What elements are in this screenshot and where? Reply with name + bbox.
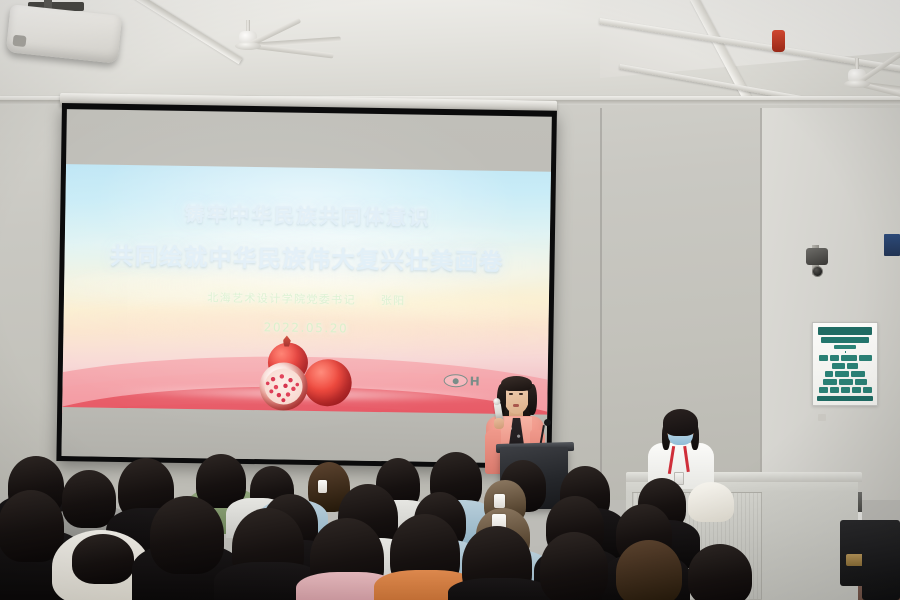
poster-chart-row [816,355,874,361]
audience-shoulders [448,578,552,600]
slide-watermark-logo: H [444,372,498,390]
lecture-hall-photo: 铸牢中华民族共同体意识 共同绘就中华民族伟大复兴壮美画卷 北海艺术设计学院党委书… [0,0,900,600]
slide-presenter-line: 北海艺术设计学院党委书记 张阳 [64,287,549,311]
wall-scuff [818,414,826,421]
audience-head [616,540,682,600]
poster-chart-cell [835,371,849,377]
audience-head [0,490,64,562]
right-wall-panel [760,108,900,500]
poster-chart-cell [847,363,858,369]
audience-head [540,532,608,600]
poster-chart-cell [841,387,850,393]
speaker-mouth [513,404,519,407]
poster-header-bar [818,327,872,335]
audience-head [150,496,224,574]
speaker-hand [494,418,504,429]
speaker-eye [509,393,513,395]
poster-chart-cell [839,379,853,385]
speaker-eye [519,393,523,395]
fire-alarm-bell [772,30,785,52]
screen-surface: 铸牢中华民族共同体意识 共同绘就中华民族伟大复兴壮美画卷 北海艺术设计学院党委书… [61,109,551,464]
wall-security-camera [806,248,828,265]
wall-seam [600,108,602,500]
audience-head [72,534,134,584]
camera-lens-icon [812,266,823,277]
poster-chart-cell [832,363,845,369]
poster-chart-cell [819,387,828,393]
eye-icon [444,374,468,387]
poster-connector [845,351,846,354]
side-chair [862,540,900,600]
poster-chart-cell [841,355,857,361]
organization-chart-poster [812,322,878,406]
podium-mic-head [544,419,551,426]
poster-chart-row [816,371,874,377]
poster-chart-cell [859,355,872,361]
hair-clip [494,494,505,508]
poster-chart-cell [830,387,839,393]
poster-title-bar [821,337,869,343]
poster-chart-row [816,379,874,385]
slide-date: 2022.05.20 [63,317,548,339]
poster-subtitle-bar [834,345,856,349]
poster-chart-cell [852,387,861,393]
poster-chart-row [816,387,874,393]
slide-title-line-1: 铸牢中华民族共同体意识 [65,196,550,233]
audience-rows [0,452,760,600]
projection-screen: 铸牢中华民族共同体意识 共同绘就中华民族伟大复兴壮美画卷 北海艺术设计学院党委书… [56,103,557,469]
speaker-hair [501,376,532,391]
poster-chart-cell [823,379,837,385]
poster-footer-bar [817,396,873,401]
audience-head [688,544,752,600]
poster-chart-cell [855,379,867,385]
poster-chart-cell [851,371,865,377]
fan-hub [844,80,870,88]
hair-clip [318,480,327,493]
slide-title-line-2: 共同绘就中华民族伟大复兴壮美画卷 [64,236,549,278]
audience-white-cap [688,482,734,522]
presentation-slide: 铸牢中华民族共同体意识 共同绘就中华民族伟大复兴壮美画卷 北海艺术设计学院党委书… [62,164,551,421]
poster-chart-cell [830,355,839,361]
poster-chart-cell [863,387,872,393]
fan-hub [235,42,261,50]
poster-chart-cell [819,355,828,361]
audience-head [62,470,116,528]
poster-chart-cell [825,371,833,377]
assistant-hair [663,409,698,436]
poster-chart-row [816,363,874,369]
wall-notice-small [884,234,900,256]
logo-letter: H [470,375,480,387]
